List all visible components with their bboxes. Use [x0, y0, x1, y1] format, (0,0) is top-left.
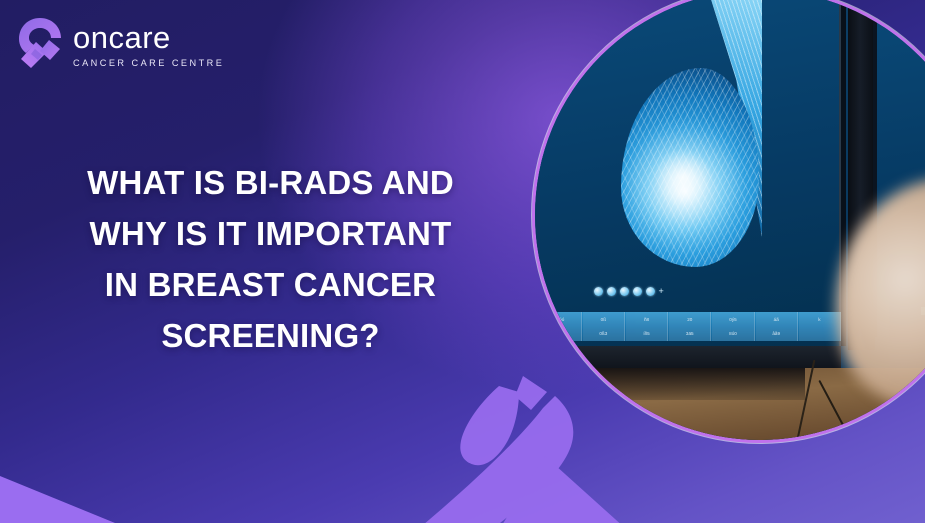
- brand-logo-text: oncare CANCER CARE CENTRE: [73, 22, 224, 68]
- cancer-awareness-ribbon-logo-icon: [16, 16, 64, 74]
- headline-line-3: IN BREAST CANCER: [28, 259, 513, 310]
- plus-icon[interactable]: +: [659, 287, 664, 296]
- table-cell: 0ß: [583, 312, 625, 327]
- table-cell: äß: [540, 326, 582, 341]
- page-title: WHAT IS BI-RADS AND WHY IS IT IMPORTANT …: [28, 157, 513, 361]
- mammogram-image-left: [621, 68, 759, 267]
- headline-line-4: SCREENING?: [28, 310, 513, 361]
- breast-tissue-texture: [621, 68, 759, 267]
- monitor-left-screen: [540, 0, 846, 346]
- table-cell: 0ý5: [712, 312, 754, 327]
- table-cell: ñ8: [626, 312, 668, 327]
- table-cell: 20: [669, 312, 711, 327]
- brand-logo[interactable]: oncare CANCER CARE CENTRE: [16, 16, 224, 74]
- table-cell: íñ5: [626, 326, 668, 341]
- circle-tool-icon[interactable]: [633, 287, 642, 296]
- table-cell: 3ä5: [669, 326, 711, 341]
- table-cell: âã9: [756, 326, 798, 341]
- circle-tool-icon[interactable]: [594, 287, 603, 296]
- brand-tagline: CANCER CARE CENTRE: [73, 59, 224, 68]
- table-row: äß 0ß3 íñ5 3ä5 8ó0 âã9: [540, 326, 842, 341]
- circle-tool-icon[interactable]: [607, 287, 616, 296]
- mammogram-photo: + Cóó 0ß ñ8 20 0ý5 áã k äß 0ß3 íñ5 3ä5: [535, 0, 925, 440]
- headline-line-1: WHAT IS BI-RADS AND: [28, 157, 513, 208]
- table-row: Cóó 0ß ñ8 20 0ý5 áã k: [540, 312, 842, 327]
- table-cell: áã: [756, 312, 798, 327]
- table-cell: k: [799, 312, 841, 327]
- headline-line-2: WHY IS IT IMPORTANT: [28, 208, 513, 259]
- desk-shadow: [558, 368, 806, 400]
- table-cell: 8ó0: [712, 326, 754, 341]
- window-level-icon[interactable]: [646, 287, 655, 296]
- viewer-data-table: Cóó 0ß ñ8 20 0ý5 áã k äß 0ß3 íñ5 3ä5 8ó0…: [540, 312, 842, 341]
- corner-wedge: [0, 438, 560, 523]
- promo-banner: + Cóó 0ß ñ8 20 0ý5 áã k äß 0ß3 íñ5 3ä5: [0, 0, 925, 523]
- mammogram-photo-circle: + Cóó 0ß ñ8 20 0ý5 áã k äß 0ß3 íñ5 3ä5: [535, 0, 925, 440]
- table-cell: 0ß3: [583, 326, 625, 341]
- table-cell: [799, 326, 841, 341]
- viewer-toolbar[interactable]: +: [594, 287, 664, 296]
- brand-wordmark: oncare: [73, 22, 224, 53]
- measure-tool-icon[interactable]: [620, 287, 629, 296]
- table-cell: Cóó: [540, 312, 582, 327]
